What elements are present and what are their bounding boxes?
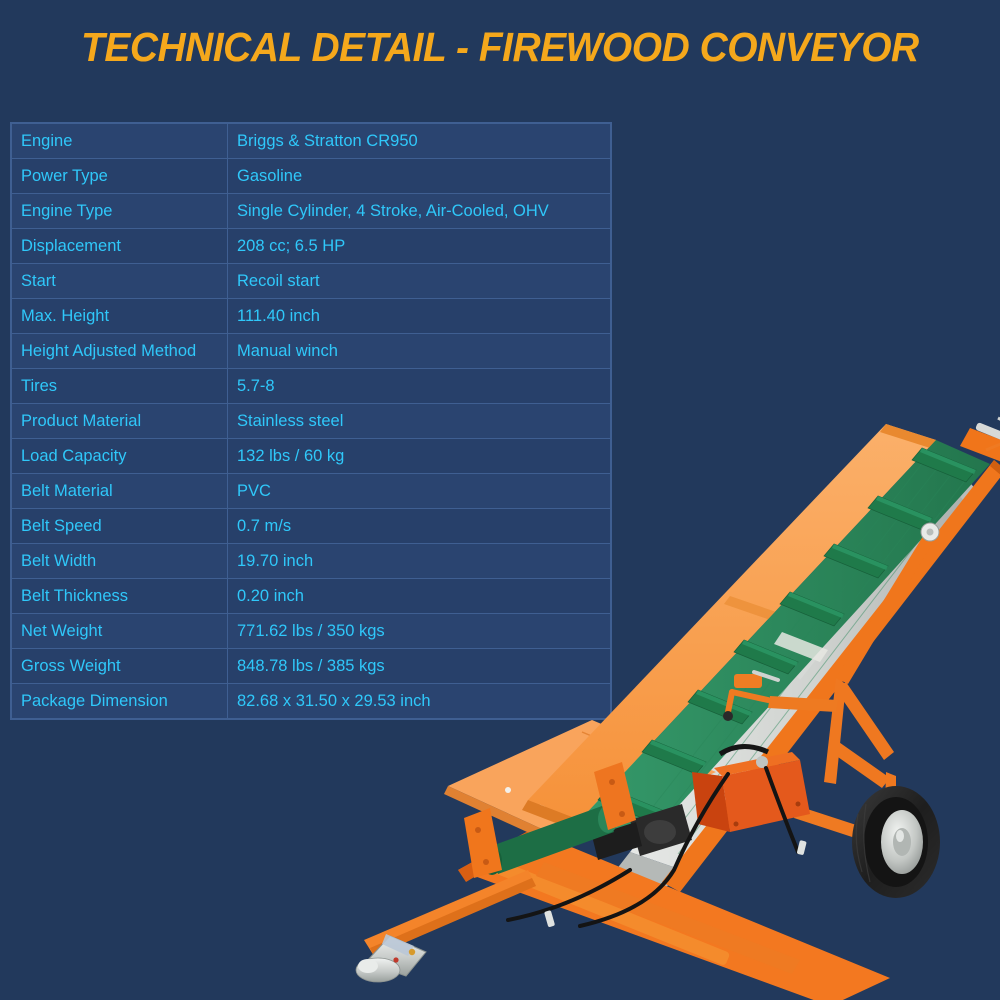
table-row: Max. Height 111.40 inch <box>12 299 611 334</box>
spec-label: Power Type <box>12 159 228 194</box>
page-title: TECHNICAL DETAIL - FIREWOOD CONVEYOR <box>81 24 919 71</box>
drive-gearbox <box>592 804 692 860</box>
spec-value: 111.40 inch <box>228 299 611 334</box>
conveyor-underside-chute <box>616 460 978 894</box>
cables <box>508 768 798 926</box>
spec-label: Tires <box>12 369 228 404</box>
table-row: Engine Type Single Cylinder, 4 Stroke, A… <box>12 194 611 229</box>
spec-label: Engine <box>12 124 228 159</box>
spec-label: Belt Speed <box>12 509 228 544</box>
spec-value: PVC <box>228 474 611 509</box>
spec-value: Stainless steel <box>228 404 611 439</box>
spec-label: Belt Material <box>12 474 228 509</box>
conveyor-belt <box>580 440 990 854</box>
table-row: Product Material Stainless steel <box>12 404 611 439</box>
table-row: Load Capacity 132 lbs / 60 kg <box>12 439 611 474</box>
table-row: Tires 5.7-8 <box>12 369 611 404</box>
spec-label: Package Dimension <box>12 684 228 719</box>
spec-value: Manual winch <box>228 334 611 369</box>
cable-ties <box>544 840 807 927</box>
table-row: Displacement 208 cc; 6.5 HP <box>12 229 611 264</box>
spec-value: 208 cc; 6.5 HP <box>228 229 611 264</box>
spec-value: Gasoline <box>228 159 611 194</box>
lower-brackets <box>464 762 636 878</box>
spec-label: Engine Type <box>12 194 228 229</box>
hitch-coupler <box>356 934 426 982</box>
spec-value: 0.20 inch <box>228 579 611 614</box>
spec-label: Belt Width <box>12 544 228 579</box>
spec-value: 5.7-8 <box>228 369 611 404</box>
engine-motor-box <box>692 746 810 832</box>
trailer-wheel <box>852 786 940 898</box>
table-row: Height Adjusted Method Manual winch <box>12 334 611 369</box>
spec-label: Start <box>12 264 228 299</box>
spec-label: Height Adjusted Method <box>12 334 228 369</box>
spec-value: 19.70 inch <box>228 544 611 579</box>
head-pulley-assembly <box>960 418 1000 462</box>
table-row: Package Dimension 82.68 x 31.50 x 29.53 … <box>12 684 611 719</box>
table-row: Start Recoil start <box>12 264 611 299</box>
spec-label: Load Capacity <box>12 439 228 474</box>
table-row: Gross Weight 848.78 lbs / 385 kgs <box>12 649 611 684</box>
table-row: Engine Briggs & Stratton CR950 <box>12 124 611 159</box>
spec-label: Belt Thickness <box>12 579 228 614</box>
belt-cleats <box>598 448 976 822</box>
table-row: Belt Speed 0.7 m/s <box>12 509 611 544</box>
technical-detail-page: TECHNICAL DETAIL - FIREWOOD CONVEYOR Eng… <box>0 0 1000 1000</box>
support-strut-mast <box>768 523 939 784</box>
spec-label: Net Weight <box>12 614 228 649</box>
table-row: Belt Material PVC <box>12 474 611 509</box>
spec-value: Single Cylinder, 4 Stroke, Air-Cooled, O… <box>228 194 611 229</box>
table-row: Power Type Gasoline <box>12 159 611 194</box>
wheel-support-arm <box>794 740 896 850</box>
winch-handle <box>723 672 778 721</box>
spec-value: 82.68 x 31.50 x 29.53 inch <box>228 684 611 719</box>
title-bar: TECHNICAL DETAIL - FIREWOOD CONVEYOR <box>0 0 1000 95</box>
spec-label: Displacement <box>12 229 228 264</box>
table-row: Belt Thickness 0.20 inch <box>12 579 611 614</box>
spec-value: 848.78 lbs / 385 kgs <box>228 649 611 684</box>
spec-label: Gross Weight <box>12 649 228 684</box>
chassis-base <box>458 830 890 1000</box>
specification-table: Engine Briggs & Stratton CR950 Power Typ… <box>11 123 611 719</box>
spec-table-body: Engine Briggs & Stratton CR950 Power Typ… <box>12 124 611 719</box>
spec-value: 132 lbs / 60 kg <box>228 439 611 474</box>
tow-bar <box>364 870 536 956</box>
spec-value: 0.7 m/s <box>228 509 611 544</box>
table-row: Net Weight 771.62 lbs / 350 kgs <box>12 614 611 649</box>
spec-label: Max. Height <box>12 299 228 334</box>
tail-pulley-drum <box>482 805 618 875</box>
infeed-hopper-tray <box>444 720 716 848</box>
spec-value: Briggs & Stratton CR950 <box>228 124 611 159</box>
boom-right-rail <box>662 460 1000 892</box>
spec-value: 771.62 lbs / 350 kgs <box>228 614 611 649</box>
spec-value: Recoil start <box>228 264 611 299</box>
table-row: Belt Width 19.70 inch <box>12 544 611 579</box>
spec-label: Product Material <box>12 404 228 439</box>
